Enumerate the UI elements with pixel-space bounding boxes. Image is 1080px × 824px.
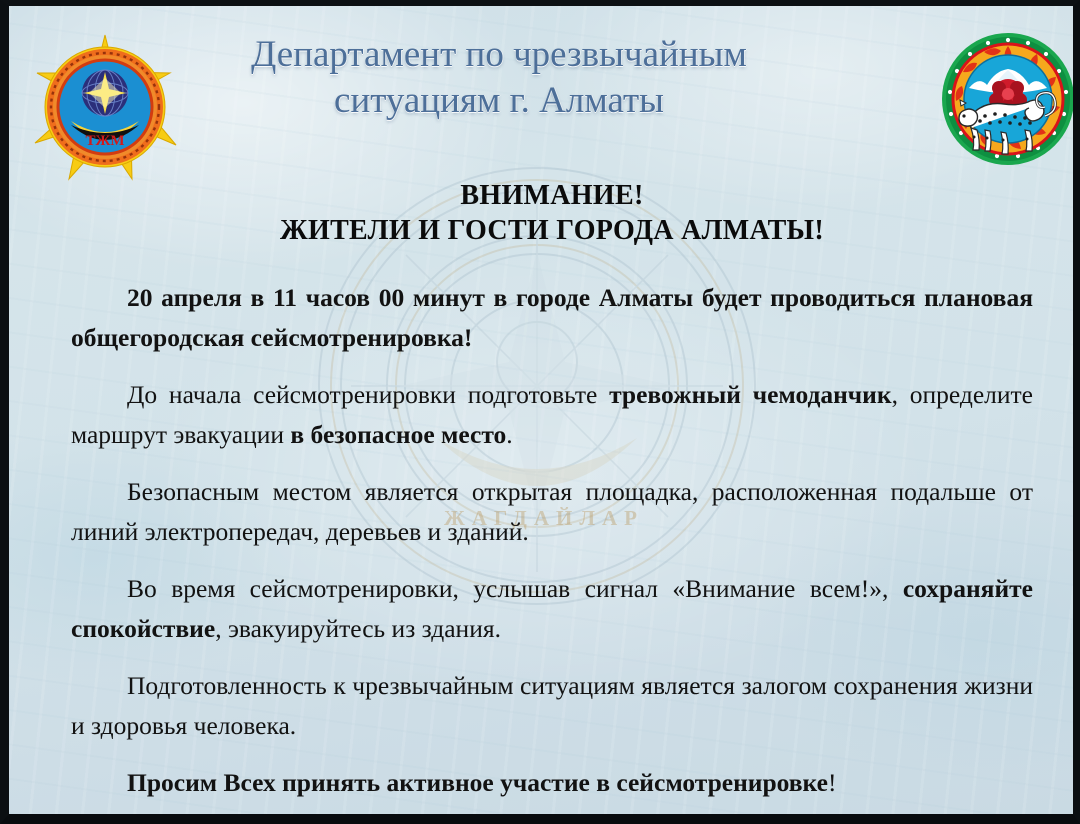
paragraph-stay-calm: Во время сейсмотренировки, услышав сигна…: [71, 569, 1033, 649]
announcement-poster: ЖАГДАЙЛАР Департамент по чрезвычайным си…: [0, 0, 1080, 824]
mchs-kazakhstan-emblem: ТЖМ: [31, 33, 179, 181]
p2-seg-4: .: [506, 420, 512, 449]
p6-seg-1: !: [828, 768, 837, 797]
page-title: Департамент по чрезвычайным ситуациям г.…: [179, 32, 819, 124]
paragraph-prepare: До начала сейсмотренировки подготовьте т…: [71, 375, 1033, 455]
poster-frame: ЖАГДАЙЛАР Департамент по чрезвычайным си…: [0, 0, 1080, 824]
p4-seg-2: , эвакуируйтесь из здания.: [215, 614, 501, 643]
paragraph-safe-place: Безопасным местом является открытая площ…: [71, 472, 1033, 552]
paragraph-announcement: 20 апреля в 11 часов 00 минут в городе А…: [71, 278, 1033, 358]
attention-heading: ВНИМАНИЕ! ЖИТЕЛИ И ГОСТИ ГОРОДА АЛМАТЫ!: [71, 178, 1033, 248]
p6-seg-0: Просим Всех принять активное участие в с…: [127, 768, 828, 797]
svg-text:ТЖМ: ТЖМ: [86, 133, 125, 149]
paragraph-call-to-action: Просим Всех принять активное участие в с…: [71, 763, 1033, 803]
p2-seg-1: тревожный чемоданчик: [609, 380, 891, 409]
p4-seg-0: Во время сейсмотренировки, услышав сигна…: [127, 574, 903, 603]
paragraph-preparedness: Подготовленность к чрезвычайным ситуация…: [71, 666, 1033, 746]
p2-seg-3: в безопасное место: [290, 420, 506, 449]
almaty-coat-of-arms: [941, 32, 1075, 166]
p2-seg-0: До начала сейсмотренировки подготовьте: [127, 380, 609, 409]
poster-content: ВНИМАНИЕ! ЖИТЕЛИ И ГОСТИ ГОРОДА АЛМАТЫ! …: [71, 178, 1033, 803]
